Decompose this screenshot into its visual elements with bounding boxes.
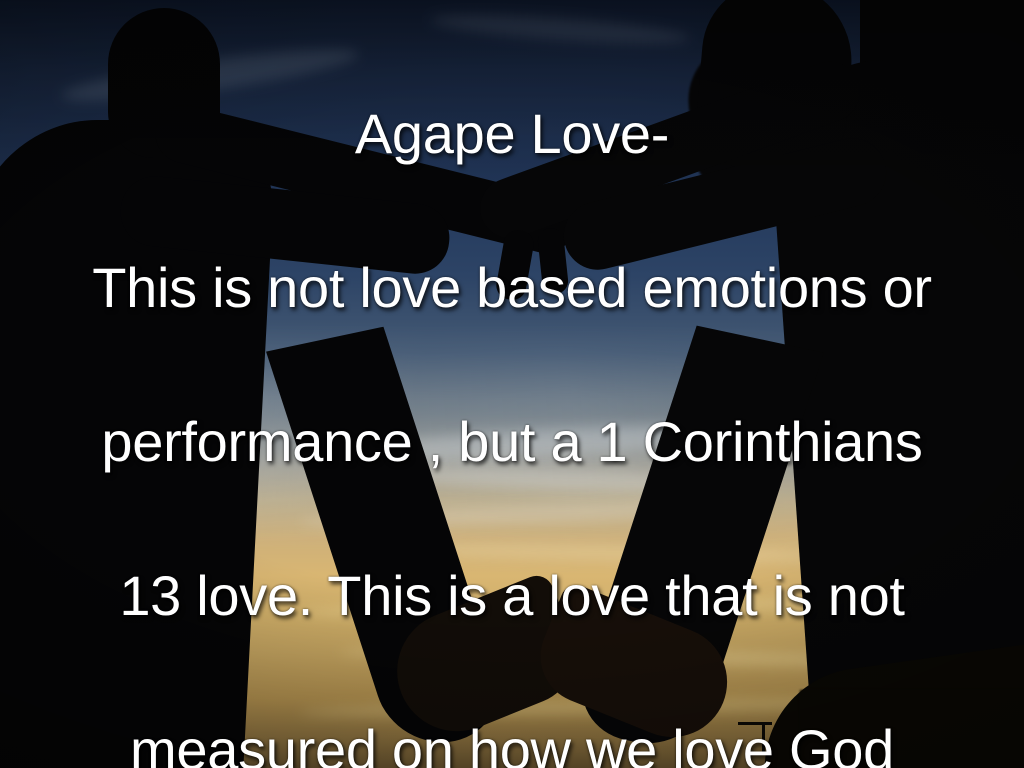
caption-line-title: Agape Love- [8, 95, 1016, 172]
caption-line: This is not love based emotions or [8, 249, 1016, 326]
caption-line: 13 love. This is a love that is not [8, 557, 1016, 634]
slide-caption: Agape Love- This is not love based emoti… [0, 18, 1024, 768]
caption-line: performance , but a 1 Corinthians [8, 403, 1016, 480]
slide-canvas: Agape Love- This is not love based emoti… [0, 0, 1024, 768]
caption-line: measured on how we love God [8, 711, 1016, 768]
